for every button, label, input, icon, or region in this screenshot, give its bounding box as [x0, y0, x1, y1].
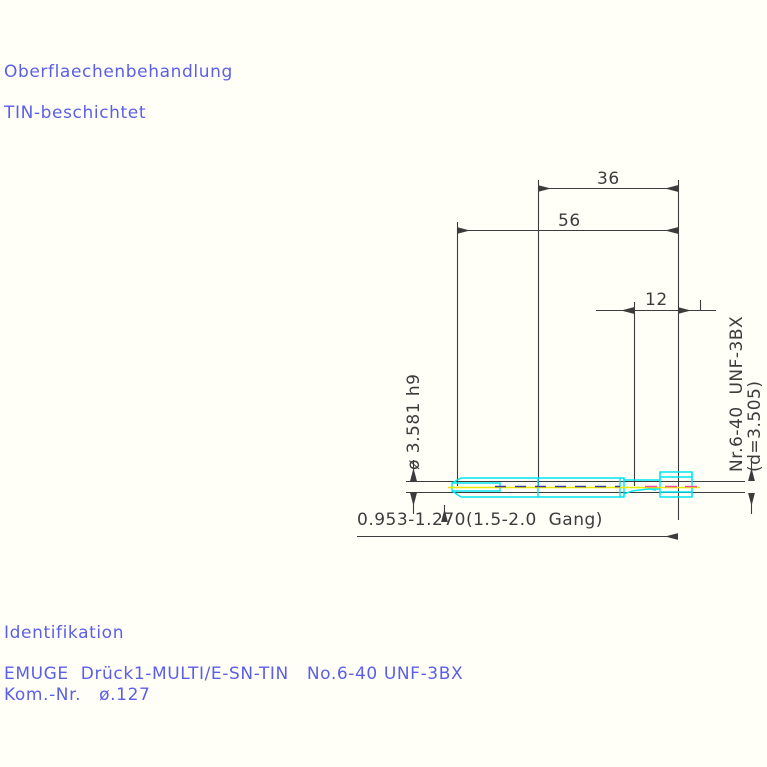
- cad-drawing-sheet: Oberflaechenbehandlung TIN-beschichtet I…: [0, 0, 767, 767]
- part-tap-outline: [448, 472, 700, 497]
- dimension-line-pitch-note: [357, 505, 678, 537]
- drawing-geometry: [0, 0, 767, 767]
